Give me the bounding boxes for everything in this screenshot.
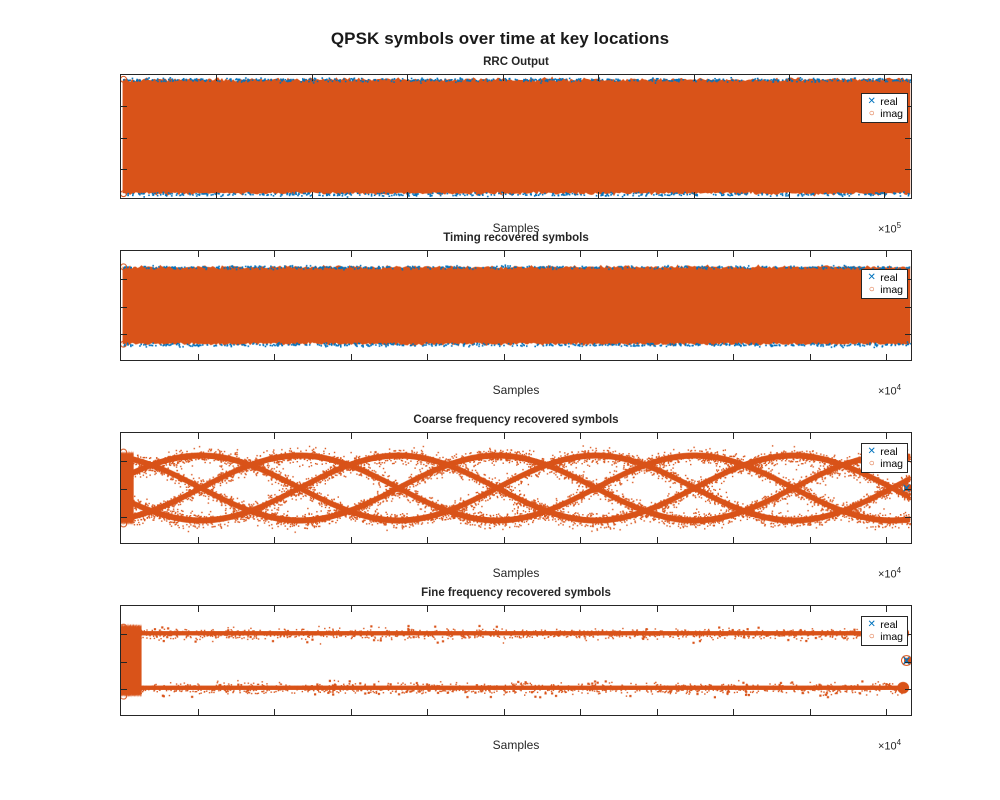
legend[interactable]: ✕ real ○ imag <box>861 616 908 646</box>
x-tick-mark <box>504 354 505 360</box>
legend-label-imag: imag <box>878 284 903 296</box>
x-tick-mark <box>427 537 428 543</box>
x-tick-mark <box>657 354 658 360</box>
x-tick-mark <box>598 75 599 81</box>
legend[interactable]: ✕ real ○ imag <box>861 269 908 299</box>
subplot-title: RRC Output <box>120 56 912 68</box>
x-tick-mark <box>694 192 695 198</box>
legend-entry-real: ✕ real <box>865 446 903 458</box>
x-tick-mark <box>733 709 734 715</box>
x-tick-mark <box>657 433 658 439</box>
x-tick-mark <box>351 251 352 257</box>
x-tick-mark <box>733 433 734 439</box>
circle-marker-icon: ○ <box>865 631 878 643</box>
x-tick-mark <box>810 433 811 439</box>
x-tick-mark <box>733 354 734 360</box>
x-tick-mark <box>198 251 199 257</box>
x-tick-mark <box>884 75 885 81</box>
legend-entry-imag: ○ imag <box>865 631 903 643</box>
matlab-figure-window: QPSK symbols over time at key locations … <box>0 0 1000 800</box>
x-axis-exponent: ×104 <box>878 566 901 581</box>
legend-label-real: real <box>878 96 898 108</box>
figure-title: QPSK symbols over time at key locations <box>0 29 1000 49</box>
y-tick-mark <box>121 689 127 690</box>
y-tick-mark <box>905 489 911 490</box>
subplot-title: Timing recovered symbols <box>120 232 912 244</box>
y-tick-mark <box>121 662 127 663</box>
x-tick-mark <box>427 354 428 360</box>
x-tick-mark <box>504 433 505 439</box>
x-axis-exponent: ×104 <box>878 738 901 753</box>
x-tick-mark <box>886 537 887 543</box>
x-tick-mark <box>274 354 275 360</box>
x-tick-mark <box>504 251 505 257</box>
x-tick-mark <box>657 709 658 715</box>
x-axis-exponent: ×104 <box>878 383 901 398</box>
legend-entry-imag: ○ imag <box>865 108 903 120</box>
x-tick-mark <box>407 75 408 81</box>
y-tick-mark <box>905 138 911 139</box>
plot-axes[interactable]: ✕ real ○ imag 210-1-20.511.522.533.54 <box>120 74 912 199</box>
x-tick-mark <box>789 192 790 198</box>
x-tick-mark <box>580 433 581 439</box>
x-tick-mark <box>198 709 199 715</box>
subplot-title: Fine frequency recovered symbols <box>120 587 912 599</box>
x-tick-mark <box>810 251 811 257</box>
x-tick-mark <box>351 709 352 715</box>
x-tick-mark <box>886 709 887 715</box>
x-tick-mark <box>274 606 275 612</box>
x-tick-mark <box>274 709 275 715</box>
x-tick-mark <box>427 433 428 439</box>
x-tick-mark <box>580 606 581 612</box>
x-tick-mark <box>274 433 275 439</box>
plot-canvas <box>121 75 911 198</box>
x-tick-mark <box>504 606 505 612</box>
x-tick-mark <box>810 709 811 715</box>
x-tick-mark <box>504 709 505 715</box>
x-tick-mark <box>694 75 695 81</box>
legend-label-real: real <box>878 272 898 284</box>
y-tick-mark <box>121 461 127 462</box>
cross-marker-icon: ✕ <box>865 96 878 108</box>
x-axis-label: Samples <box>120 738 912 752</box>
y-tick-mark <box>905 169 911 170</box>
legend-entry-real: ✕ real <box>865 96 903 108</box>
x-tick-mark <box>598 192 599 198</box>
x-tick-mark <box>312 75 313 81</box>
legend-label-imag: imag <box>878 631 903 643</box>
x-tick-mark <box>886 433 887 439</box>
cross-marker-icon: ✕ <box>865 446 878 458</box>
x-tick-mark <box>351 354 352 360</box>
y-tick-mark <box>121 138 127 139</box>
y-tick-mark <box>121 307 127 308</box>
x-tick-mark <box>198 354 199 360</box>
x-tick-mark <box>580 251 581 257</box>
x-tick-mark <box>351 433 352 439</box>
legend-entry-imag: ○ imag <box>865 458 903 470</box>
plot-canvas <box>121 433 911 543</box>
x-axis-label: Samples <box>120 383 912 397</box>
plot-axes[interactable]: ✕ real ○ imag 210-1-212345678910 <box>120 432 912 544</box>
y-tick-mark <box>905 689 911 690</box>
y-tick-mark <box>121 489 127 490</box>
plot-canvas <box>121 251 911 360</box>
x-tick-mark <box>503 75 504 81</box>
subplot-title: Coarse frequency recovered symbols <box>120 414 912 426</box>
y-tick-mark <box>121 106 127 107</box>
x-tick-mark <box>733 606 734 612</box>
y-tick-mark <box>121 279 127 280</box>
y-tick-mark <box>905 662 911 663</box>
x-tick-mark <box>657 537 658 543</box>
x-tick-mark <box>657 606 658 612</box>
legend-label-imag: imag <box>878 458 903 470</box>
x-tick-mark <box>580 709 581 715</box>
x-tick-mark <box>427 709 428 715</box>
y-tick-mark <box>121 169 127 170</box>
legend-label-real: real <box>878 619 898 631</box>
plot-canvas <box>121 606 911 715</box>
x-tick-mark <box>886 354 887 360</box>
cross-marker-icon: ✕ <box>865 272 878 284</box>
x-tick-mark <box>274 251 275 257</box>
x-tick-mark <box>216 75 217 81</box>
x-tick-mark <box>810 606 811 612</box>
x-axis-label: Samples <box>120 566 912 580</box>
legend[interactable]: ✕ real ○ imag <box>861 93 908 123</box>
circle-marker-icon: ○ <box>865 284 878 296</box>
legend[interactable]: ✕ real ○ imag <box>861 443 908 473</box>
x-tick-mark <box>886 606 887 612</box>
x-tick-mark <box>216 192 217 198</box>
x-tick-mark <box>504 537 505 543</box>
circle-marker-icon: ○ <box>865 458 878 470</box>
x-tick-mark <box>427 606 428 612</box>
legend-entry-real: ✕ real <box>865 272 903 284</box>
legend-entry-real: ✕ real <box>865 619 903 631</box>
plot-axes[interactable]: ✕ real ○ imag 210-1-212345678910 <box>120 250 912 361</box>
y-tick-mark <box>905 307 911 308</box>
x-tick-mark <box>884 192 885 198</box>
y-tick-mark <box>905 334 911 335</box>
y-tick-mark <box>121 334 127 335</box>
y-tick-mark <box>121 634 127 635</box>
x-tick-mark <box>312 192 313 198</box>
legend-label-real: real <box>878 446 898 458</box>
legend-label-imag: imag <box>878 108 903 120</box>
x-tick-mark <box>198 606 199 612</box>
x-tick-mark <box>733 537 734 543</box>
x-tick-mark <box>810 537 811 543</box>
y-tick-mark <box>121 517 127 518</box>
x-tick-mark <box>351 606 352 612</box>
y-tick-mark <box>905 517 911 518</box>
circle-marker-icon: ○ <box>865 108 878 120</box>
x-tick-mark <box>198 433 199 439</box>
x-tick-mark <box>351 537 352 543</box>
x-tick-mark <box>886 251 887 257</box>
legend-entry-imag: ○ imag <box>865 284 903 296</box>
x-tick-mark <box>503 192 504 198</box>
x-tick-mark <box>427 251 428 257</box>
x-tick-mark <box>657 251 658 257</box>
x-tick-mark <box>580 537 581 543</box>
x-tick-mark <box>789 75 790 81</box>
x-tick-mark <box>407 192 408 198</box>
plot-axes[interactable]: ✕ real ○ imag 210-1-212345678910 <box>120 605 912 716</box>
x-tick-mark <box>198 537 199 543</box>
x-tick-mark <box>274 537 275 543</box>
x-tick-mark <box>810 354 811 360</box>
x-tick-mark <box>733 251 734 257</box>
cross-marker-icon: ✕ <box>865 619 878 631</box>
x-tick-mark <box>580 354 581 360</box>
